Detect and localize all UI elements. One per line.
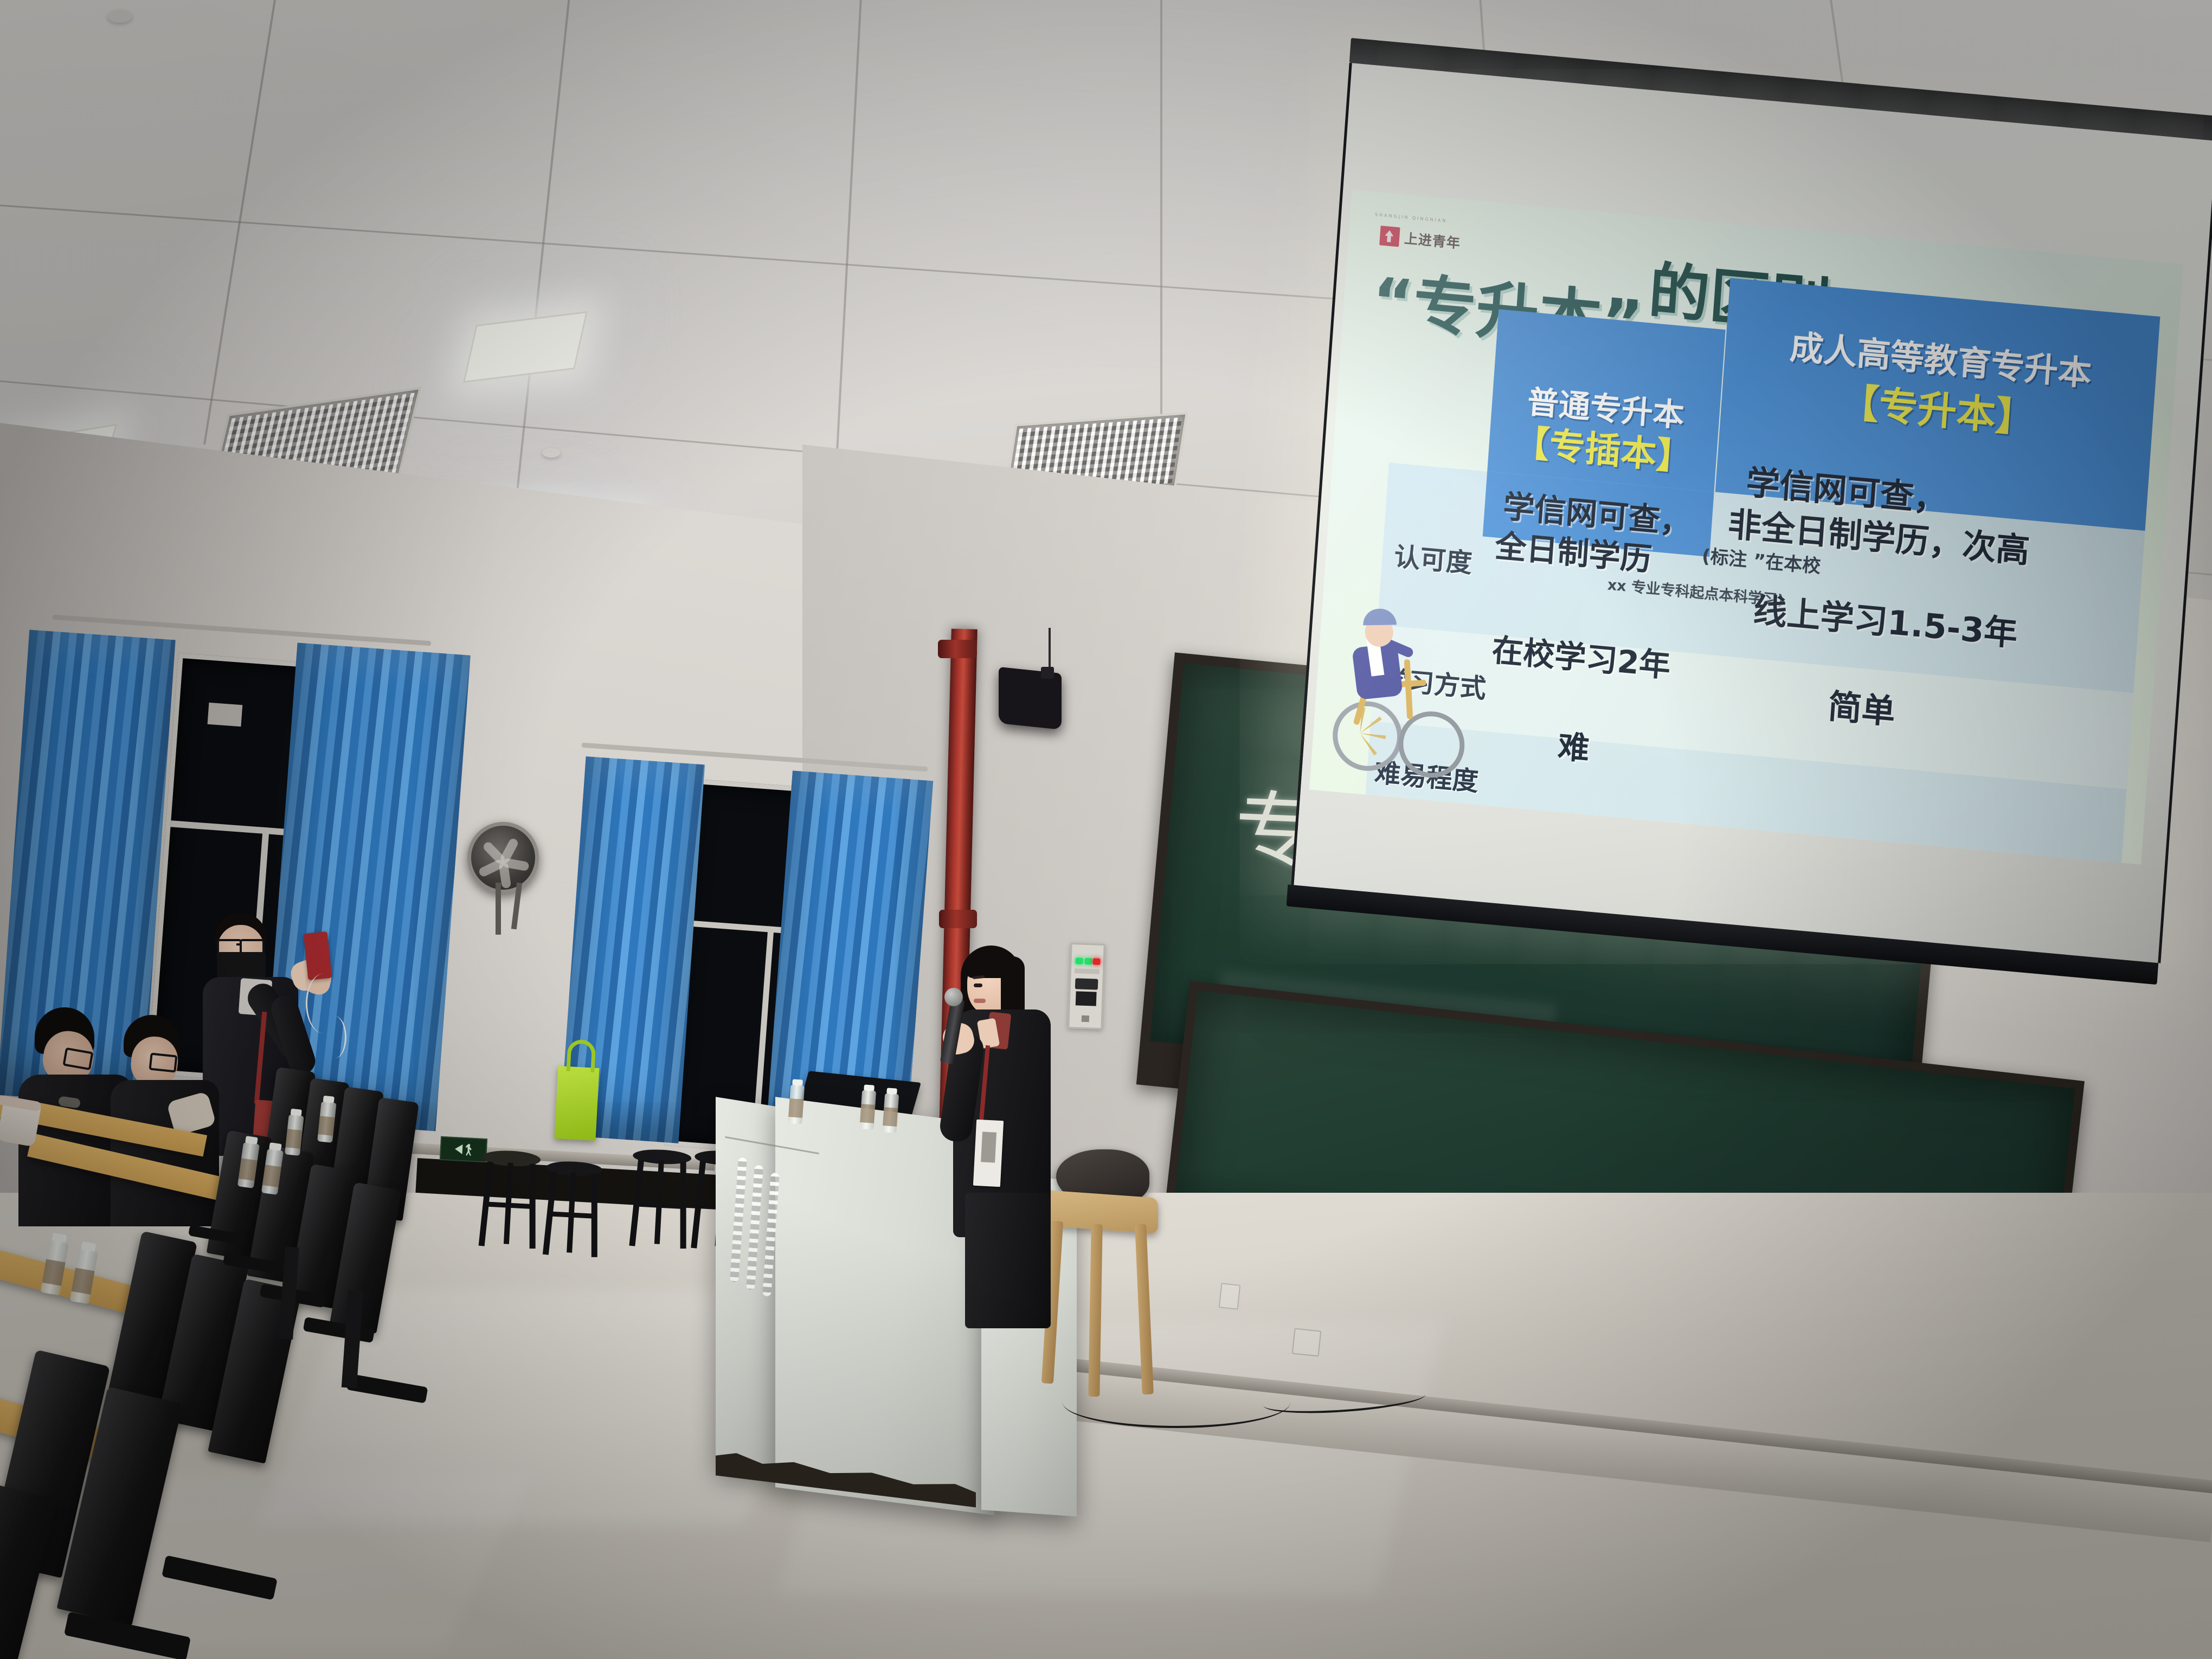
running-man-icon bbox=[465, 1143, 473, 1156]
cell-chengren-nanyichengdu: 简单 bbox=[1827, 689, 1896, 731]
logo-brand-text: 上进青年 bbox=[1404, 228, 1461, 252]
table-header-col-putong: 普通专升本 【专插本】 bbox=[1487, 309, 1726, 492]
smartphone[interactable] bbox=[304, 931, 332, 980]
microphone-head bbox=[944, 988, 963, 1006]
power-cable bbox=[1063, 1377, 1290, 1428]
ceiling-light bbox=[463, 311, 588, 383]
pipe-collar bbox=[939, 910, 977, 928]
brand-logo: 上进青年 bbox=[1379, 226, 1461, 252]
green-tote-bag bbox=[555, 1066, 600, 1141]
smoke-detector-icon bbox=[542, 448, 561, 458]
exit-arrow-icon bbox=[454, 1144, 462, 1154]
tote-handle bbox=[566, 1039, 596, 1073]
earbud-wire bbox=[323, 1016, 346, 1058]
cell-putong-nanyichengdu: 难 bbox=[1557, 729, 1590, 766]
projection-screen: 上进青年 SHANGJIN QINGNIAN “专升本” 的区别 普通专升本 【… bbox=[1288, 38, 2212, 1014]
comparison-table: 普通专升本 【专插本】 成人高等教育专升本 【专升本】 认可度 学信网可查， 全… bbox=[1367, 300, 2157, 844]
id-badge bbox=[973, 1120, 1004, 1187]
cyclist-icon bbox=[1328, 602, 1464, 781]
wall-outlet[interactable] bbox=[1292, 1328, 1322, 1357]
light-switch[interactable] bbox=[1219, 1283, 1241, 1310]
logo-subtext: SHANGJIN QINGNIAN bbox=[1375, 212, 1448, 223]
screen-surface: 上进青年 SHANGJIN QINGNIAN “专升本” 的区别 普通专升本 【… bbox=[1291, 63, 2212, 963]
row-label-renkedu: 认可度 bbox=[1393, 535, 1474, 580]
control-panel[interactable] bbox=[1068, 943, 1105, 1030]
glasses-icon bbox=[149, 1052, 177, 1072]
exit-sign bbox=[440, 1136, 487, 1162]
lecture-hall-photo: 专升本讲座 上进青年 SHANGJIN QINGNIAN “专升本” 的区别 bbox=[0, 0, 2212, 1659]
presentation-slide: 上进青年 SHANGJIN QINGNIAN “专升本” 的区别 普通专升本 【… bbox=[1309, 189, 2183, 864]
logo-mark-icon bbox=[1379, 226, 1400, 247]
smoke-detector-icon bbox=[107, 10, 132, 23]
pipe-collar bbox=[938, 640, 977, 658]
